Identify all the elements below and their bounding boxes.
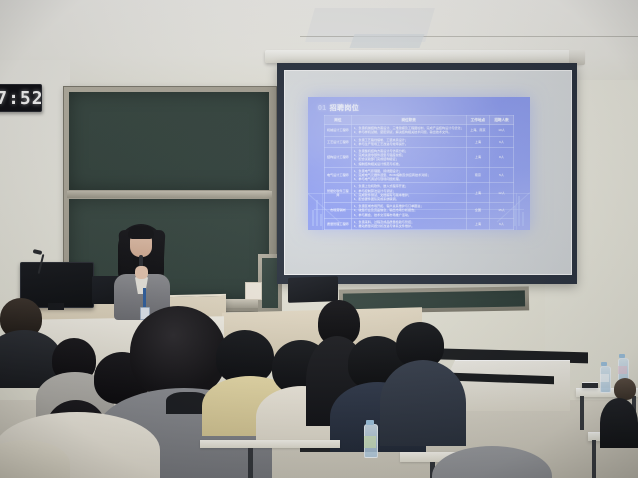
side-desk-lower-leg [592,440,596,478]
presenter-hands [135,266,148,279]
cell-location: 上海 [466,218,489,229]
screen-surface: 01招聘岗位 岗位 岗位职责 工作地点 招聘人数 机械设计工程师1、负责机械结构… [284,70,572,275]
recruitment-table: 岗位 岗位职责 工作地点 招聘人数 机械设计工程师1、负责机械结构方案设计、三维… [324,115,514,230]
duty-line: 4、配合硬件团队完成系统联调。 [354,197,464,201]
second-laptop [288,276,338,303]
water-bottle-center-label [364,436,376,448]
cell-position: 机械设计工程师 [325,125,352,136]
column-header-headcount: 招聘人数 [490,116,514,125]
side-desk-upper-leg [580,396,584,430]
presenter-hair-fringe [128,226,154,239]
cell-position: 电气设计工程师 [325,167,352,183]
water-bottle-cap-1 [601,362,607,366]
cell-headcount: 10人 [490,125,514,136]
slide-title-number: 01 [318,105,327,112]
cell-duties: 1、负责整机结构方案设计与仿真分析；2、完成关键零部件选型与强度校核；3、配合试… [351,148,466,168]
water-bottle-center-cap [366,420,374,425]
water-bottle-label-2 [618,366,627,374]
projector-screen-housing [265,50,583,63]
table-row: 工艺设计工程师1、负责工艺路线编制、工装夹具设计；2、参与生产现场工艺改进与效率… [325,136,514,147]
desk-row-right-leg [248,448,253,478]
column-header-position: 岗位 [325,116,352,125]
tablet-on-desk [582,382,598,388]
audience-head-center-tall [130,306,226,398]
cell-duties: 1、负责上位机软件、嵌入式程序开发；2、参与控制算法设计与调试；3、完成软件测试… [351,183,466,203]
column-header-location: 工作地点 [466,116,489,125]
cell-headcount: 15人 [490,203,514,219]
duty-line: 2、参与样机试制、装配调试，解决结构相关技术问题，输出技术文件。 [354,130,464,134]
water-bottle-label-1 [600,374,609,382]
projection-screen: 01招聘岗位 岗位 岗位职责 工作地点 招聘人数 机械设计工程师1、负责机械结构… [277,63,577,284]
cell-headcount: 8人 [490,148,514,168]
cell-location: 上海 [466,136,489,147]
table-row: 智能化软件工程师1、负责上位机软件、嵌入式程序开发；2、参与控制算法设计与调试；… [325,183,514,203]
cell-headcount: 6人 [490,218,514,229]
digital-wall-clock: 07:52 [0,84,42,112]
chalkboard-side-marking: ······· [268,101,273,108]
cell-headcount: 12人 [490,183,514,203]
recruitment-table-body: 机械设计工程师1、负责机械结构方案设计、三维建模及工程图绘制，完成产品结构设计与… [325,125,514,230]
presenter-lanyard [143,288,146,308]
audience-body-hooded-right [380,360,466,446]
table-row: 电气设计工程师1、负责电气原理图、接线图设计；2、完成电气元器件选型、BOM编制… [325,167,514,183]
duty-line: 3、参与展会、技术交流等市场推广活动。 [354,213,464,217]
column-header-duties: 岗位职责 [351,116,466,125]
presenter [112,222,172,317]
clock-time: 07:52 [0,88,42,109]
monitor-stand [48,303,64,310]
cell-location: 全国 [466,203,489,219]
cell-duties: 1、负责机械结构方案设计、三维建模及工程图绘制，完成产品结构设计与优化；2、参与… [351,125,466,136]
cell-headcount: 5人 [490,167,514,183]
cell-headcount: 6人 [490,136,514,147]
desk-row-right [200,440,340,448]
cell-location: 南京 [466,167,489,183]
cell-position: 市场营销岗 [325,203,352,219]
cell-duties: 1、负责电气原理图、接线图设计；2、完成电气元器件选型、BOM编制及供应商技术对… [351,167,466,183]
cell-position: 结构设计工程师 [325,148,352,168]
cell-duties: 1、负责区域市场开拓、客户关系维护与订单跟进；2、收集行业及竞品信息，输出市场分… [351,203,466,219]
duty-line: 2、推动质量问题分析改进与体系文件维护。 [354,224,464,228]
duty-line: 2、参与生产现场工艺改进与效率提升。 [354,142,464,146]
chalkboard-side-marking-2: ······· [268,207,273,214]
water-bottle-cap-2 [619,354,625,358]
cell-position: 工艺设计工程师 [325,136,352,147]
chalkboard-upper-panel [69,92,269,190]
slide-title-text: 招聘岗位 [330,105,360,112]
cell-position: 质量管理工程师 [325,218,352,229]
seated-person-far-right-body [600,398,638,448]
table-header-row: 岗位 岗位职责 工作地点 招聘人数 [325,116,514,125]
duty-line: 3、参与电气调试与现场问题处理。 [354,177,464,181]
duty-line: 4、编制结构相关设计规范与标准。 [354,162,464,166]
table-row: 机械设计工程师1、负责机械结构方案设计、三维建模及工程图绘制，完成产品结构设计与… [325,125,514,136]
table-row: 质量管理工程师1、负责来料、过程及成品质量检验与管控；2、推动质量问题分析改进与… [325,218,514,229]
seated-person-far-right-head [614,378,636,400]
cell-duties: 1、负责来料、过程及成品质量检验与管控；2、推动质量问题分析改进与体系文件维护。 [351,218,466,229]
presentation-slide: 01招聘岗位 岗位 岗位职责 工作地点 招聘人数 机械设计工程师1、负责机械结构… [308,97,530,230]
table-row: 市场营销岗1、负责区域市场开拓、客户关系维护与订单跟进；2、收集行业及竞品信息，… [325,203,514,219]
cell-duties: 1、负责工艺路线编制、工装夹具设计；2、参与生产现场工艺改进与效率提升。 [351,136,466,147]
lecture-hall-photo: 07:52 ······· ······· [0,0,638,478]
podium-paper-stack [245,282,262,300]
slide-title: 01招聘岗位 [318,103,359,113]
cell-location: 上海 [466,183,489,203]
cell-location: 上海 [466,148,489,168]
cell-location: 上海、南京 [466,125,489,136]
cell-position: 智能化软件工程师 [325,183,352,203]
chalkboard-center-rail [67,191,272,198]
table-row: 结构设计工程师1、负责整机结构方案设计与仿真分析；2、完成关键零部件选型与强度校… [325,148,514,168]
